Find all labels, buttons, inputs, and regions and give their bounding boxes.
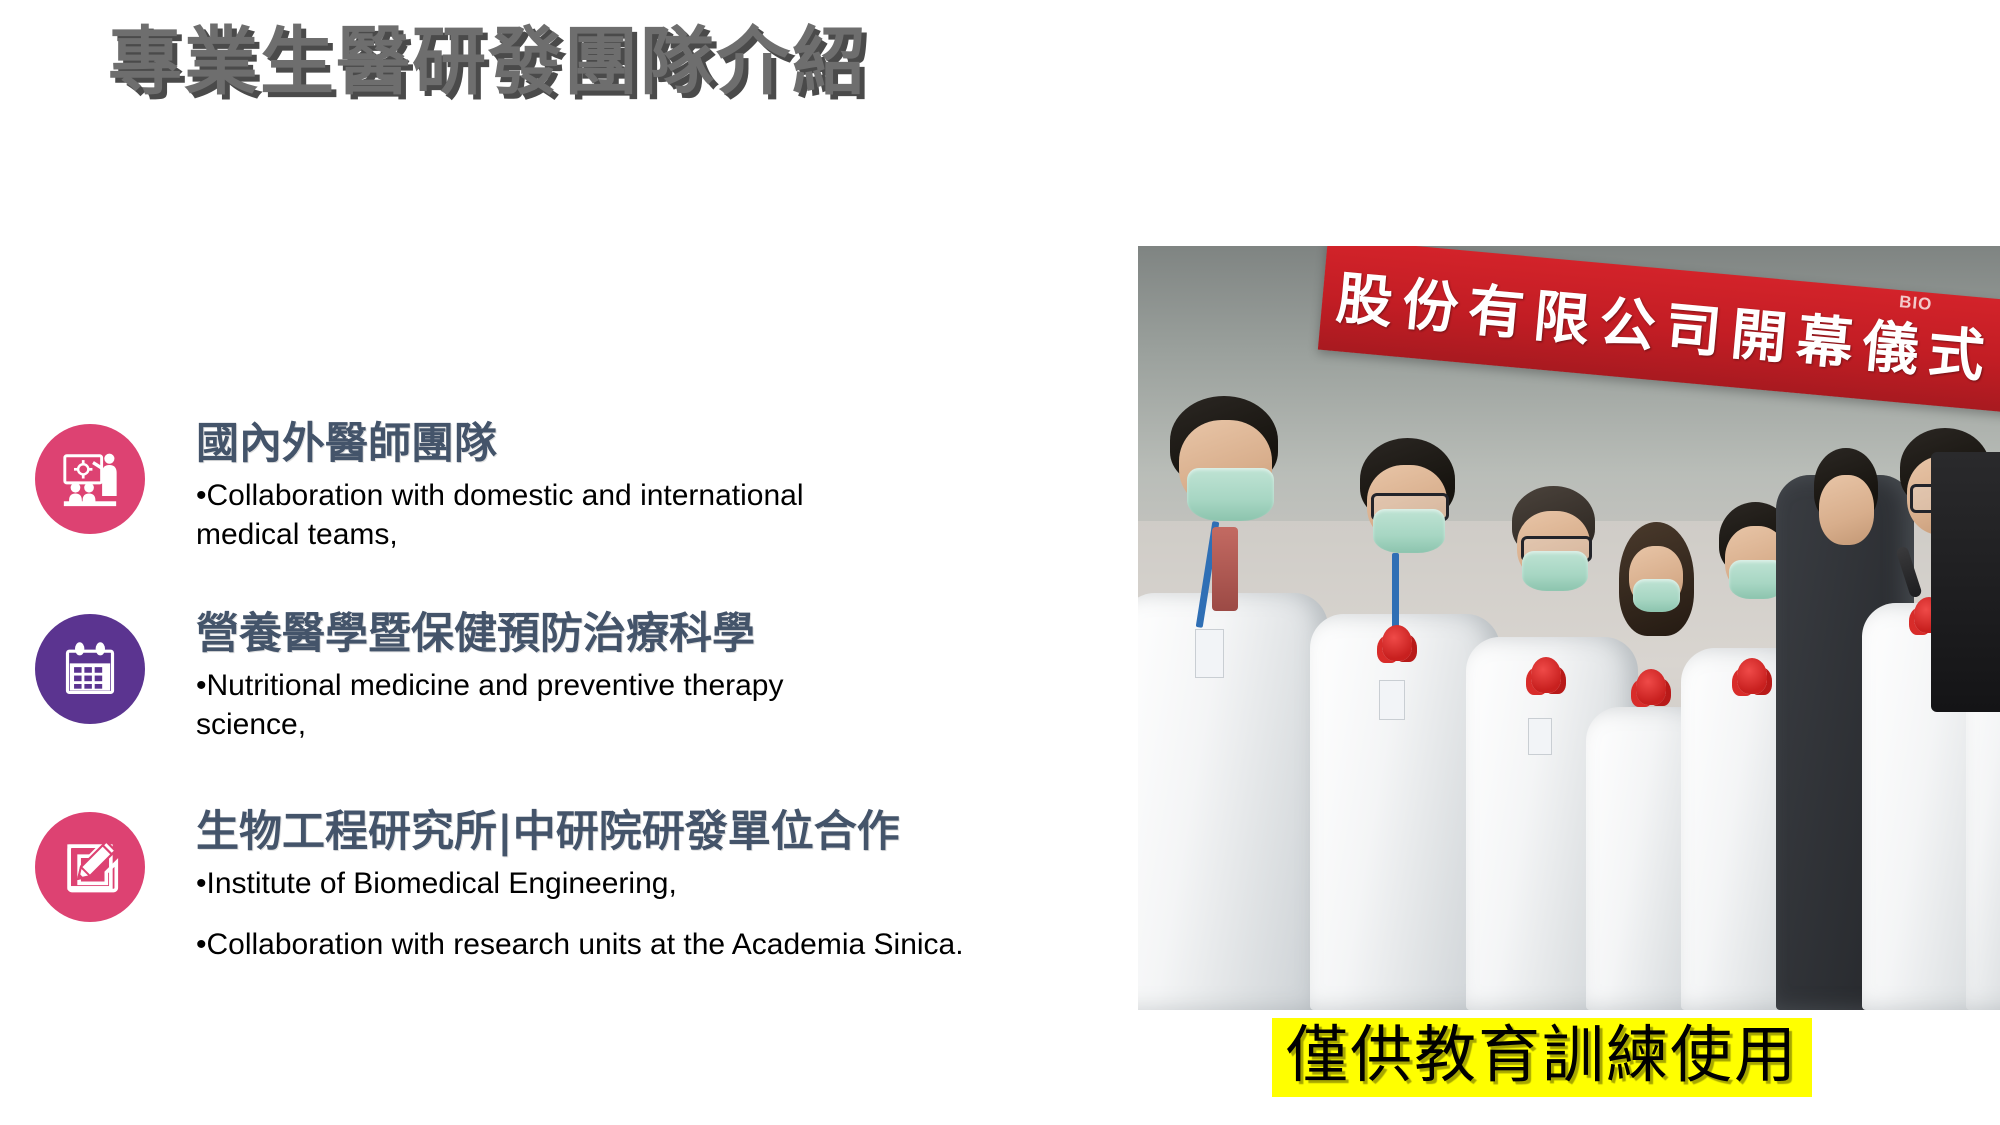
photo-person-2-corsage: [1382, 625, 1412, 661]
training-presentation-icon: [35, 424, 145, 534]
opening-ceremony-group-photo: 股份有限公司開幕儀式 BIO: [1138, 246, 2000, 1010]
photo-banner-logo: BIO: [1898, 292, 1933, 315]
photo-camera-tripod: [1931, 452, 2000, 712]
photo-person-1: [1138, 414, 1328, 1010]
page-title: 專業生醫研發團隊介紹: [108, 16, 868, 109]
photo-person-1-coat: [1138, 593, 1328, 1010]
content-column: 國內外醫師團隊 •Collaboration with domestic and…: [0, 420, 1140, 1060]
section-heading-medical-teams: 國內外醫師團隊: [196, 420, 1140, 469]
section-bullet-biomedical-engineering-2: •Collaboration with research units at th…: [196, 926, 1136, 964]
photo-scene: 股份有限公司開幕儀式 BIO: [1138, 246, 2000, 1010]
photo-person-2-badge: [1379, 680, 1406, 721]
section-bullet-nutritional-medicine: •Nutritional medicine and preventive the…: [196, 667, 816, 743]
section-heading-nutritional-medicine: 營養醫學暨保健預防治療科學: [196, 610, 1140, 659]
photo-person-4-mask: [1633, 579, 1680, 612]
photo-person-3-badge: [1528, 718, 1552, 755]
section-bullet-medical-teams: •Collaboration with domestic and interna…: [196, 477, 816, 553]
photo-person-4-corsage: [1636, 669, 1666, 705]
section-text-biomedical-engineering: 生物工程研究所|中研院研發單位合作 •Institute of Biomedic…: [196, 808, 1140, 964]
section-heading-biomedical-engineering: 生物工程研究所|中研院研發單位合作: [196, 808, 1140, 857]
photo-microphone-icon: [1896, 546, 1923, 599]
calendar-icon: [35, 614, 145, 724]
photo-person-1-badge: [1195, 629, 1224, 679]
photo-person-3-corsage: [1531, 657, 1561, 693]
edit-pencil-icon: [35, 812, 145, 922]
photo-person-3-mask: [1522, 551, 1588, 591]
photo-person-1-mask: [1187, 468, 1274, 522]
photo-person-5-corsage: [1737, 658, 1767, 694]
photo-person-1-tie: [1212, 527, 1238, 610]
training-use-watermark: 僅供教育訓練使用: [1272, 1018, 1812, 1097]
section-text-nutritional-medicine: 營養醫學暨保健預防治療科學 •Nutritional medicine and …: [196, 610, 1140, 744]
photo-person-2-mask: [1373, 509, 1445, 553]
section-bullet-biomedical-engineering-1: •Institute of Biomedical Engineering,: [196, 865, 1136, 903]
section-text-medical-teams: 國內外醫師團隊 •Collaboration with domestic and…: [196, 420, 1140, 554]
